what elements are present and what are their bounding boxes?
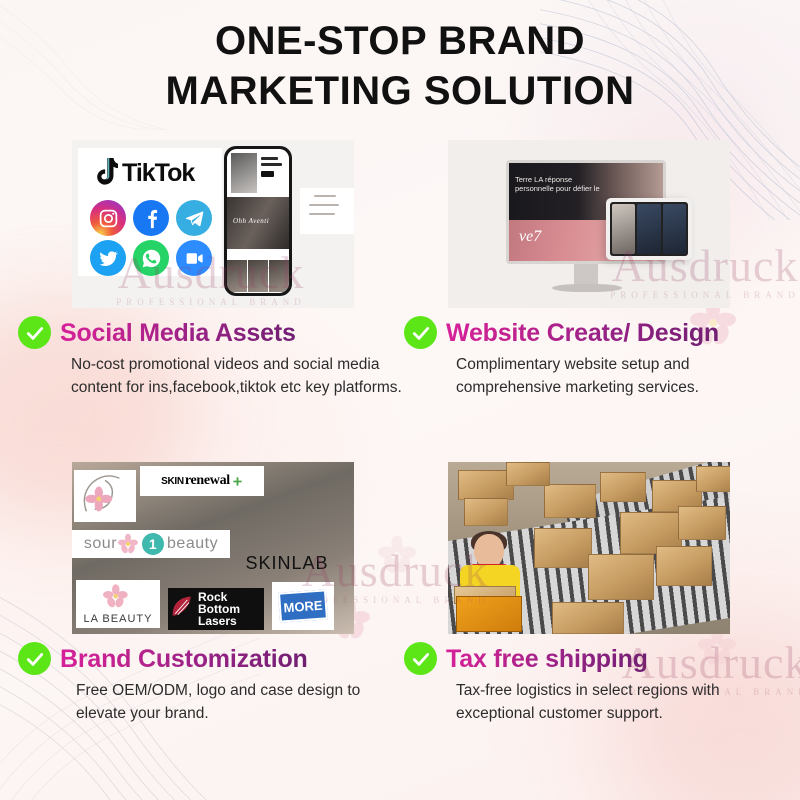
telegram-icon <box>176 200 212 236</box>
features-grid: TikTok <box>0 0 800 800</box>
logo-source-one-beauty: sour 1 beauty <box>72 530 230 558</box>
phone-hero-banner: Ohh Aventi <box>227 197 289 249</box>
brand-logos-thumbnail: SKIN renewal sour <box>72 462 354 634</box>
feature-description: Free OEM/ODM, logo and case design to el… <box>76 679 376 725</box>
phone-header <box>227 149 289 197</box>
website-logo: ve7 <box>519 228 541 246</box>
tiktok-wordmark: TikTok <box>122 159 194 188</box>
logo-bird-flower <box>74 470 136 522</box>
feature-title: Website Create/ Design <box>446 318 719 348</box>
page-title: ONE-STOP BRAND MARKETING SOLUTION <box>0 16 800 116</box>
logo-skin-renewal: SKIN renewal <box>140 466 264 496</box>
feature-card-social-media: TikTok <box>72 140 354 399</box>
logo-rock-bottom-lasers: Rock Bottom Lasers <box>168 588 264 630</box>
zoom-icon <box>176 240 212 276</box>
logo-renewal-text: renewal <box>185 473 230 489</box>
feature-card-tax-free-shipping: Tax free shipping Tax-free logistics in … <box>448 462 730 725</box>
phone-header-text <box>261 149 289 197</box>
tiktok-note-icon <box>92 158 118 188</box>
logo-la-beauty: LA BEAUTY <box>76 580 160 628</box>
website-headline: Terre LA réponse personnelle pour défier… <box>515 175 601 193</box>
phone-header-image <box>231 153 257 193</box>
feature-description: No-cost promotional videos and social me… <box>71 353 416 399</box>
feature-title: Tax free shipping <box>446 644 648 674</box>
social-media-thumbnail: TikTok <box>72 140 354 308</box>
check-icon <box>18 642 51 675</box>
feature-card-brand-customization: SKIN renewal sour <box>72 462 354 725</box>
worker-package <box>456 596 522 632</box>
logo-source-text: sour <box>84 535 117 553</box>
page-title-line-1: ONE-STOP BRAND <box>0 16 800 66</box>
phone-screen: Ohh Aventi <box>227 149 289 293</box>
logo-skinlab-text: SKINLAB <box>245 553 328 574</box>
logo-skin-text: SKIN <box>161 476 184 487</box>
feature-heading-row: Brand Customization <box>18 642 358 675</box>
smartphone-mockup: Ohh Aventi <box>224 146 292 296</box>
logo-la-beauty-text: LA BEAUTY <box>84 613 153 625</box>
monitor-stand <box>574 264 598 286</box>
sakura-flower-icon <box>103 584 133 610</box>
logo-skinlab: SKINLAB <box>236 548 338 578</box>
sakura-flower-icon <box>118 534 138 554</box>
social-icons-card: TikTok <box>78 148 222 276</box>
feature-card-website-design: Terre LA réponse personnelle pour défier… <box>448 140 730 399</box>
delivery-worker <box>454 534 528 632</box>
phone-caption-bar <box>227 249 289 260</box>
feature-description: Complimentary website setup and comprehe… <box>456 353 716 399</box>
fan-icon <box>170 593 196 619</box>
instagram-icon <box>90 200 126 236</box>
logo-lasers-text: Lasers <box>198 615 264 627</box>
logo-beauty-text: beauty <box>167 535 218 553</box>
feature-title: Brand Customization <box>60 644 308 674</box>
shipping-warehouse-thumbnail <box>448 462 730 634</box>
check-icon <box>404 642 437 675</box>
tablet-mockup <box>606 198 692 260</box>
plus-icon <box>232 476 243 487</box>
social-icons-grid <box>90 200 216 276</box>
tiktok-logo: TikTok <box>92 158 194 188</box>
worker-head <box>474 534 504 568</box>
logo-more: MORE <box>272 582 334 630</box>
check-icon <box>404 316 437 349</box>
poster-root: ONE-STOP BRAND MARKETING SOLUTION TikTok <box>0 0 800 800</box>
feature-heading-row: Website Create/ Design <box>404 316 754 349</box>
twitter-icon <box>90 240 126 276</box>
phone-photo-grid <box>227 260 289 292</box>
feature-heading-row: Tax free shipping <box>404 642 754 675</box>
feature-heading-row: Social Media Assets <box>18 316 358 349</box>
feature-title: Social Media Assets <box>60 318 296 348</box>
handwritten-note-card <box>300 188 354 234</box>
website-design-thumbnail: Terre LA réponse personnelle pour défier… <box>448 140 730 308</box>
phone-hero-text: Ohh Aventi <box>233 217 269 225</box>
logo-more-text: MORE <box>278 589 328 622</box>
check-icon <box>18 316 51 349</box>
logo-number-one: 1 <box>142 533 164 555</box>
tablet-screen <box>610 202 688 256</box>
logo-bird-icon <box>74 470 136 522</box>
page-title-line-2: MARKETING SOLUTION <box>0 66 800 116</box>
whatsapp-icon <box>133 240 169 276</box>
monitor-base <box>552 284 622 292</box>
feature-description: Tax-free logistics in select regions wit… <box>456 679 746 725</box>
facebook-icon <box>133 200 169 236</box>
